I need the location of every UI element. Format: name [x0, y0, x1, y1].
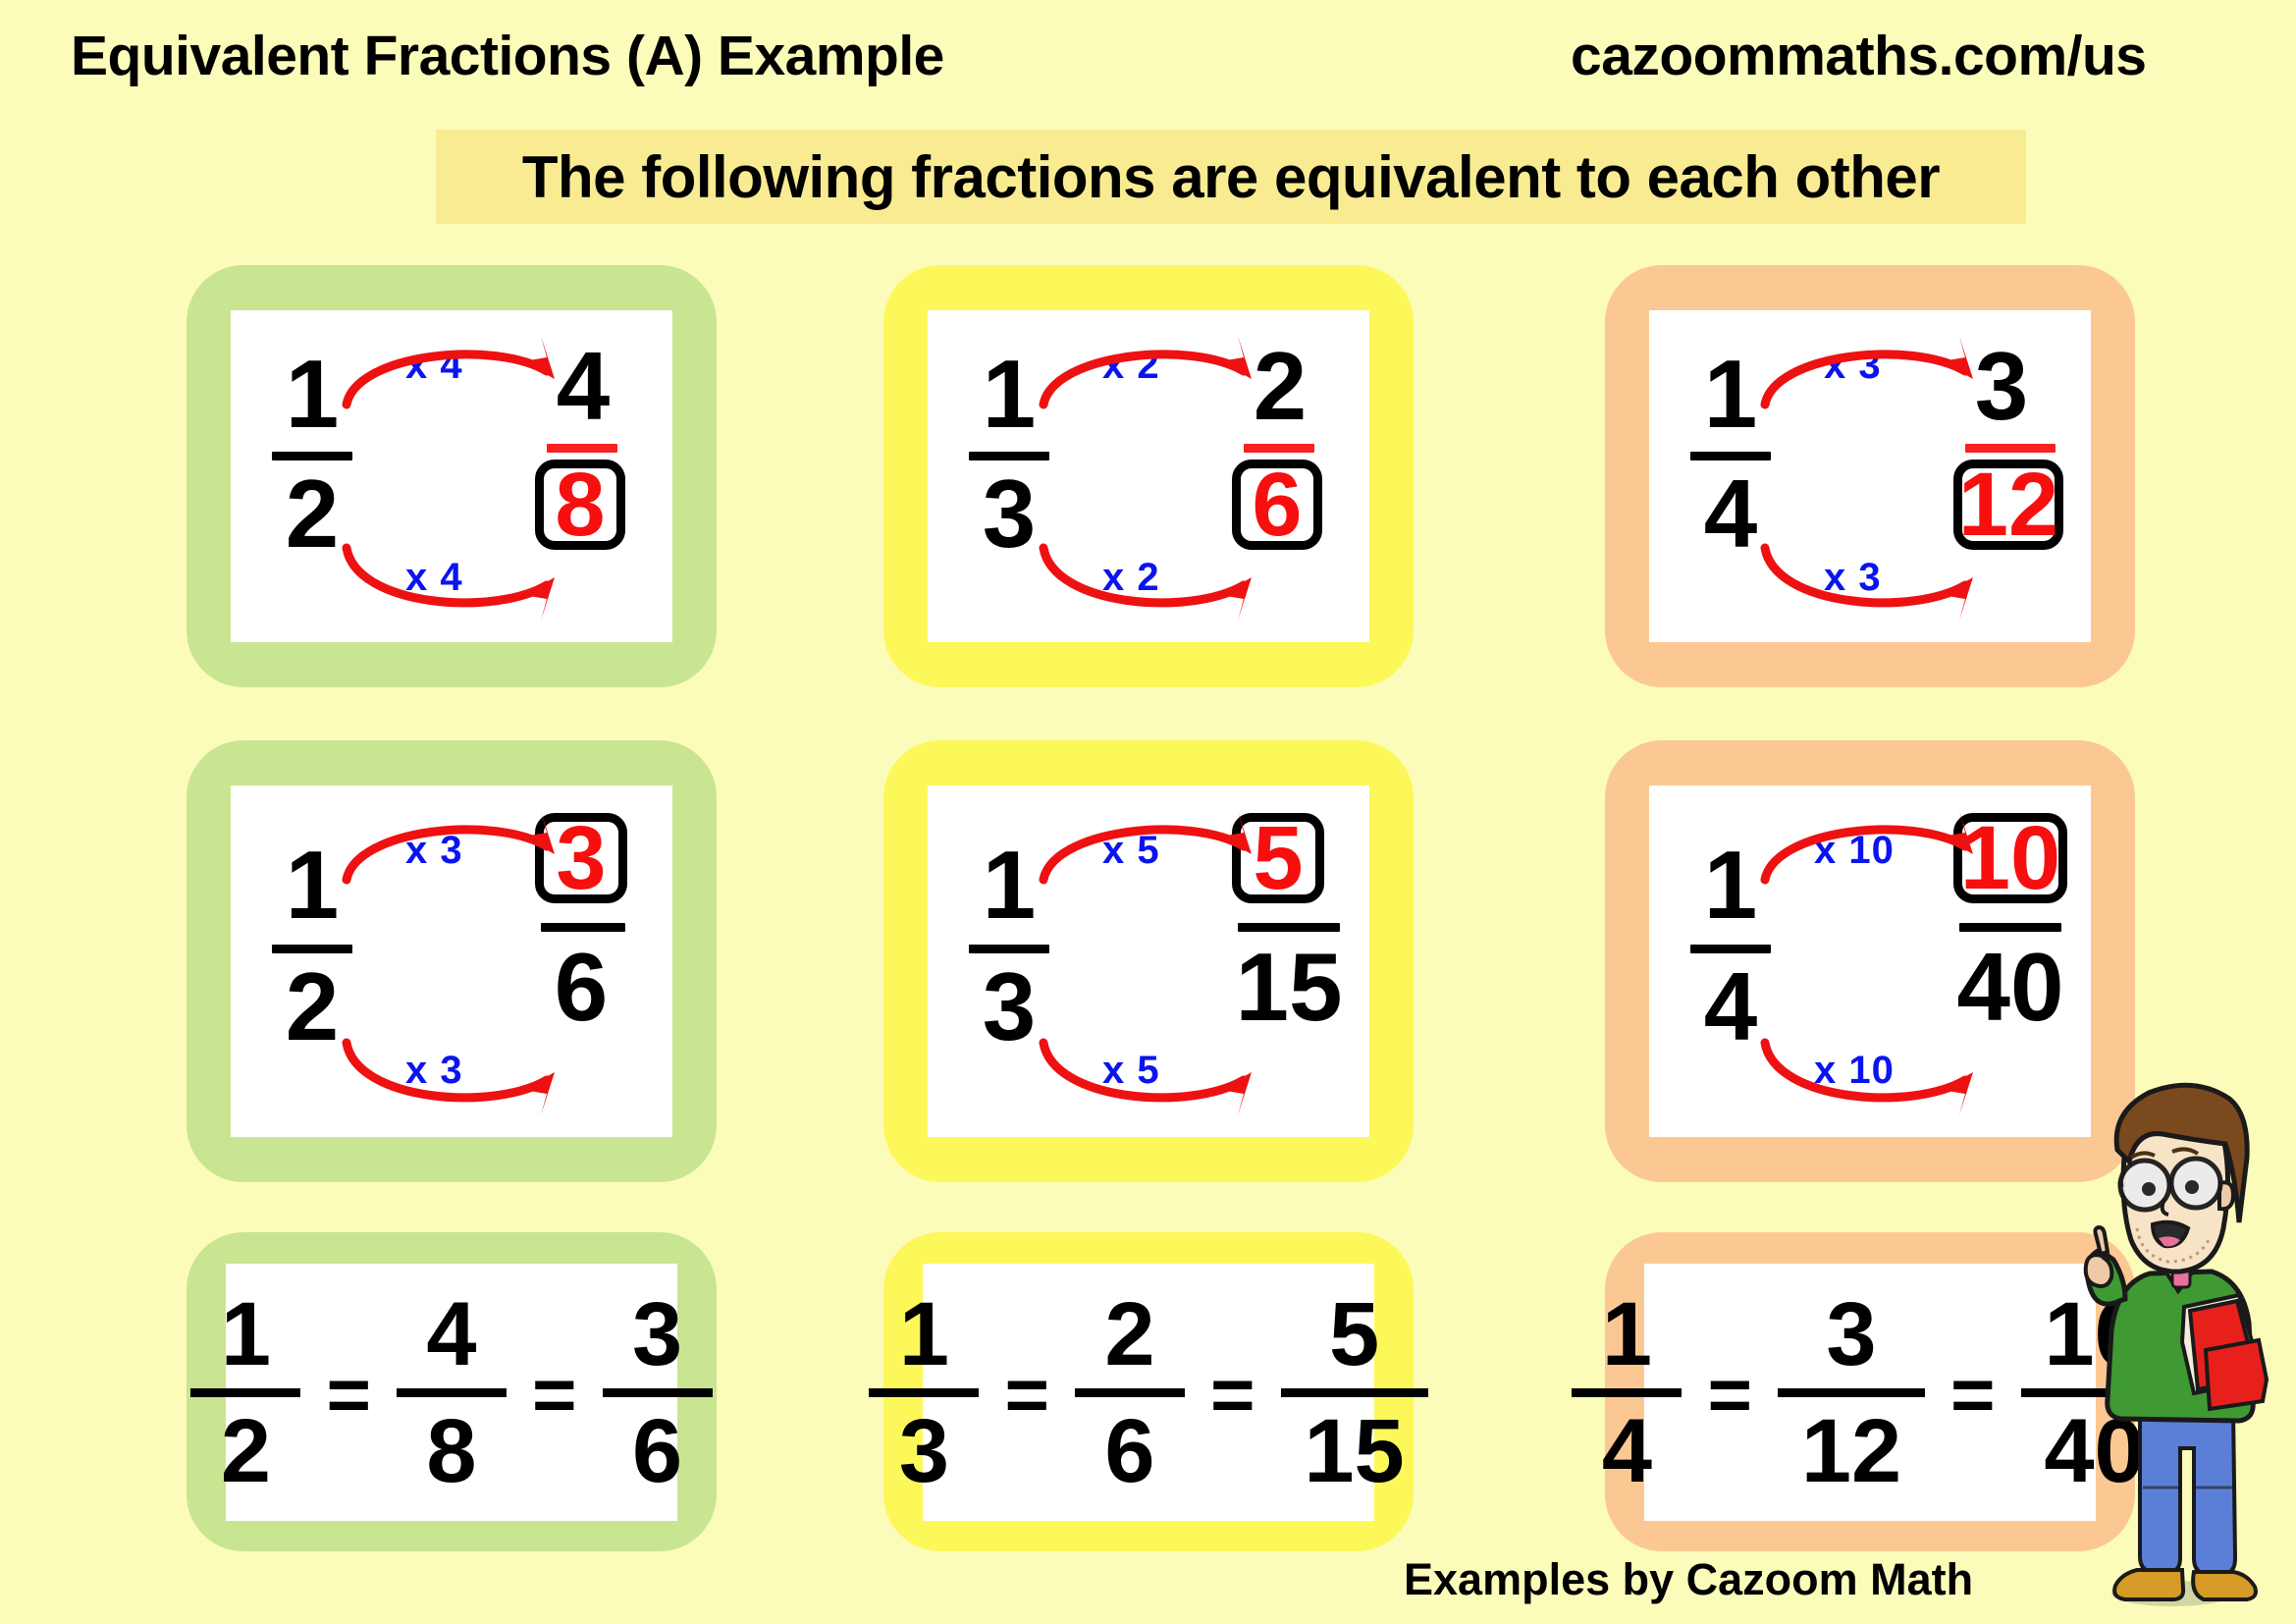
- summary-numerator: 2: [1104, 1289, 1154, 1380]
- equals-sign: =: [1707, 1356, 1752, 1433]
- fraction-work-area: 141040x 10x 10: [1649, 785, 2091, 1137]
- multiply-arrow-bottom-head: [1942, 1072, 1973, 1115]
- card-surface: 1248x 4x 4: [231, 310, 672, 642]
- answer-value: 8: [555, 460, 605, 550]
- left-numerator: 1: [975, 346, 1043, 442]
- fraction-work-area: 1326x 2x 2: [928, 310, 1369, 642]
- multiply-arrow-bottom-head: [523, 1072, 555, 1115]
- summary-fraction-bar: [869, 1388, 979, 1397]
- answer-value: 10: [1960, 813, 2060, 903]
- card-surface: 14312x 3x 3: [1649, 310, 2091, 642]
- left-numerator: 1: [1696, 346, 1765, 442]
- summary-denominator: 4: [1602, 1406, 1652, 1496]
- summary-numerator: 3: [632, 1289, 682, 1380]
- summary-denominator: 12: [1801, 1406, 1901, 1496]
- multiplier-bottom-label: x 3: [405, 1049, 463, 1093]
- summary-fraction: 13: [869, 1289, 979, 1496]
- summary-fraction-bar: [1281, 1388, 1428, 1397]
- answer-value: 5: [1253, 813, 1303, 903]
- left-numerator: 1: [278, 346, 347, 442]
- fraction-work-area: 1236x 3x 3: [231, 785, 672, 1137]
- equivalence-row: 13=26=515: [923, 1264, 1374, 1521]
- answer-box[interactable]: 12: [1953, 460, 2063, 550]
- card-surface: 14=312=1040: [1644, 1264, 2096, 1521]
- summary-fraction: 515: [1281, 1289, 1428, 1496]
- multiply-arrow-bottom-head: [1220, 1072, 1252, 1115]
- answer-box[interactable]: 3: [535, 813, 627, 903]
- summary-fraction: 26: [1075, 1289, 1185, 1496]
- left-numerator: 1: [975, 837, 1043, 933]
- right-fraction-bar: [1965, 444, 2056, 453]
- right-denominator: 40: [1953, 939, 2067, 1035]
- card-r1c3: 14312x 3x 3: [1605, 265, 2135, 687]
- equals-sign: =: [532, 1356, 577, 1433]
- page-title: Equivalent Fractions (A) Example: [71, 24, 944, 88]
- summary-numerator: 1: [221, 1289, 271, 1380]
- summary-fraction: 36: [603, 1289, 713, 1496]
- multiplier-top-label: x 2: [1102, 344, 1160, 388]
- card-r1c2: 1326x 2x 2: [883, 265, 1414, 687]
- multiplier-top-label: x 4: [405, 344, 463, 388]
- summary-numerator: 3: [1826, 1289, 1876, 1380]
- summary-fraction-bar: [1572, 1388, 1682, 1397]
- summary-c1: 12=48=36: [187, 1232, 717, 1551]
- right-numerator: 3: [1961, 338, 2042, 434]
- answer-box[interactable]: 10: [1953, 813, 2067, 903]
- summary-numerator: 5: [1329, 1289, 1379, 1380]
- left-denominator: 4: [1696, 465, 1765, 562]
- answer-box[interactable]: 5: [1232, 813, 1324, 903]
- page-header: Equivalent Fractions (A) Example cazoomm…: [0, 18, 2296, 106]
- fraction-work-area: 1248x 4x 4: [231, 310, 672, 642]
- answer-value: 3: [556, 813, 606, 903]
- summary-c2: 13=26=515: [883, 1232, 1414, 1551]
- left-denominator: 3: [975, 465, 1043, 562]
- card-surface: 13515x 5x 5: [928, 785, 1369, 1137]
- left-denominator: 2: [278, 465, 347, 562]
- multiply-arrow-bottom-head: [1942, 577, 1973, 621]
- footer-credit: Examples by Cazoom Math: [1404, 1554, 1973, 1605]
- left-numerator: 1: [1696, 837, 1765, 933]
- equals-sign: =: [1950, 1356, 1996, 1433]
- equivalence-row: 14=312=1040: [1644, 1264, 2096, 1521]
- summary-fraction-bar: [1778, 1388, 1925, 1397]
- summary-fraction: 312: [1778, 1289, 1925, 1496]
- equivalence-row: 12=48=36: [226, 1264, 677, 1521]
- summary-denominator: 6: [632, 1406, 682, 1496]
- right-numerator: 4: [543, 338, 623, 434]
- summary-denominator: 3: [899, 1406, 949, 1496]
- multiply-arrow-bottom-head: [1220, 577, 1252, 621]
- summary-denominator: 2: [221, 1406, 271, 1496]
- multiplier-top-label: x 3: [405, 829, 463, 873]
- equals-sign: =: [1004, 1356, 1049, 1433]
- left-numerator: 1: [278, 837, 347, 933]
- fraction-work-area: 13515x 5x 5: [928, 785, 1369, 1137]
- summary-denominator: 8: [426, 1406, 476, 1496]
- summary-numerator: 4: [426, 1289, 476, 1380]
- multiply-arrow-bottom-head: [523, 577, 555, 621]
- right-denominator: 15: [1232, 939, 1346, 1035]
- site-url: cazoommaths.com/us: [1571, 24, 2147, 88]
- multiplier-top-label: x 5: [1102, 829, 1160, 873]
- equals-sign: =: [1210, 1356, 1255, 1433]
- instruction-banner: The following fractions are equivalent t…: [436, 130, 2026, 224]
- summary-fraction: 48: [397, 1289, 507, 1496]
- summary-numerator: 1: [1602, 1289, 1652, 1380]
- multiplier-bottom-label: x 3: [1824, 556, 1882, 600]
- equals-sign: =: [326, 1356, 371, 1433]
- card-surface: 141040x 10x 10: [1649, 785, 2091, 1137]
- card-surface: 1326x 2x 2: [928, 310, 1369, 642]
- multiplier-bottom-label: x 2: [1102, 556, 1160, 600]
- multiplier-bottom-label: x 10: [1814, 1049, 1895, 1093]
- right-fraction-bar: [1959, 923, 2061, 932]
- right-numerator: 2: [1240, 338, 1320, 434]
- card-surface: 13=26=515: [923, 1264, 1374, 1521]
- instruction-text: The following fractions are equivalent t…: [522, 143, 1940, 211]
- summary-numerator: 1: [899, 1289, 949, 1380]
- multiplier-top-label: x 3: [1824, 344, 1882, 388]
- right-fraction-bar: [1244, 444, 1314, 453]
- answer-value: 12: [1958, 460, 2058, 550]
- fraction-work-area: 14312x 3x 3: [1649, 310, 2091, 642]
- left-denominator: 3: [975, 958, 1043, 1055]
- summary-denominator: 15: [1304, 1406, 1404, 1496]
- summary-fraction-bar: [397, 1388, 507, 1397]
- card-r1c1: 1248x 4x 4: [187, 265, 717, 687]
- summary-denominator: 6: [1104, 1406, 1154, 1496]
- multiplier-top-label: x 10: [1814, 829, 1895, 873]
- card-surface: 12=48=36: [226, 1264, 677, 1521]
- card-r2c1: 1236x 3x 3: [187, 740, 717, 1182]
- cazoom-teacher-mascot: [2047, 1056, 2292, 1615]
- summary-fraction-bar: [603, 1388, 713, 1397]
- right-fraction-bar: [541, 923, 625, 932]
- answer-box[interactable]: 6: [1232, 460, 1322, 550]
- multiplier-bottom-label: x 5: [1102, 1049, 1160, 1093]
- answer-value: 6: [1252, 460, 1302, 550]
- right-fraction-bar: [547, 444, 617, 453]
- right-fraction-bar: [1238, 923, 1340, 932]
- summary-fraction-bar: [1075, 1388, 1185, 1397]
- left-denominator: 2: [278, 958, 347, 1055]
- right-denominator: 6: [535, 939, 627, 1035]
- multiplier-bottom-label: x 4: [405, 556, 463, 600]
- card-surface: 1236x 3x 3: [231, 785, 672, 1137]
- summary-fraction: 14: [1572, 1289, 1682, 1496]
- summary-fraction-bar: [190, 1388, 300, 1397]
- summary-fraction: 12: [190, 1289, 300, 1496]
- answer-box[interactable]: 8: [535, 460, 625, 550]
- card-r2c2: 13515x 5x 5: [883, 740, 1414, 1182]
- left-denominator: 4: [1696, 958, 1765, 1055]
